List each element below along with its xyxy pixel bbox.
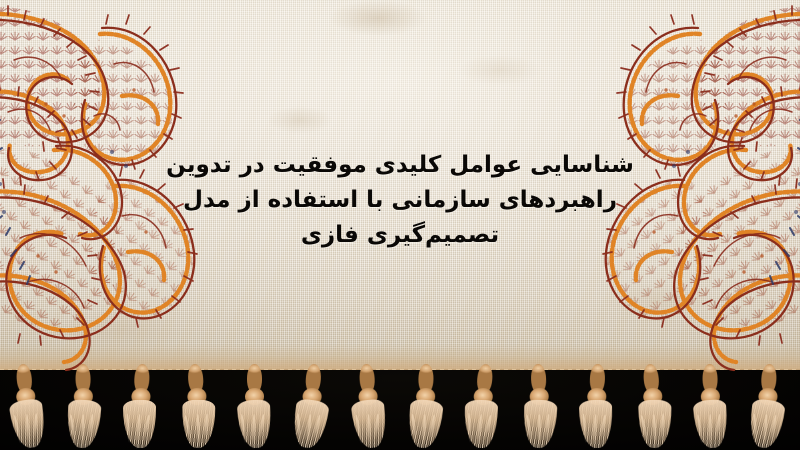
tassel-strand: [538, 414, 541, 450]
tassel: [62, 362, 103, 449]
tassel: [234, 362, 274, 448]
tassel: [745, 361, 789, 449]
tassel: [575, 361, 618, 448]
tassel: [404, 362, 445, 449]
tassel: [288, 361, 334, 450]
slide-canvas: شناسایی عوامل کلیدی موفقیت در تدوین راهب…: [0, 0, 800, 450]
tassel: [118, 361, 162, 449]
title-line-3: تصمیم‌گیری فازی: [150, 218, 650, 253]
tassel: [346, 361, 390, 449]
tassel: [629, 360, 676, 449]
tassel: [2, 360, 49, 449]
tassel: [518, 361, 561, 448]
slide-title: شناسایی عوامل کلیدی موفقیت در تدوین راهب…: [150, 148, 650, 253]
title-line-1: شناسایی عوامل کلیدی موفقیت در تدوین: [150, 148, 650, 183]
title-line-2: راهبردهای سازمانی با استفاده از مدل: [150, 183, 650, 218]
tassel: [689, 362, 730, 449]
tassel: [458, 360, 505, 449]
tassel-fringe: [0, 362, 800, 450]
tassel: [174, 361, 220, 450]
